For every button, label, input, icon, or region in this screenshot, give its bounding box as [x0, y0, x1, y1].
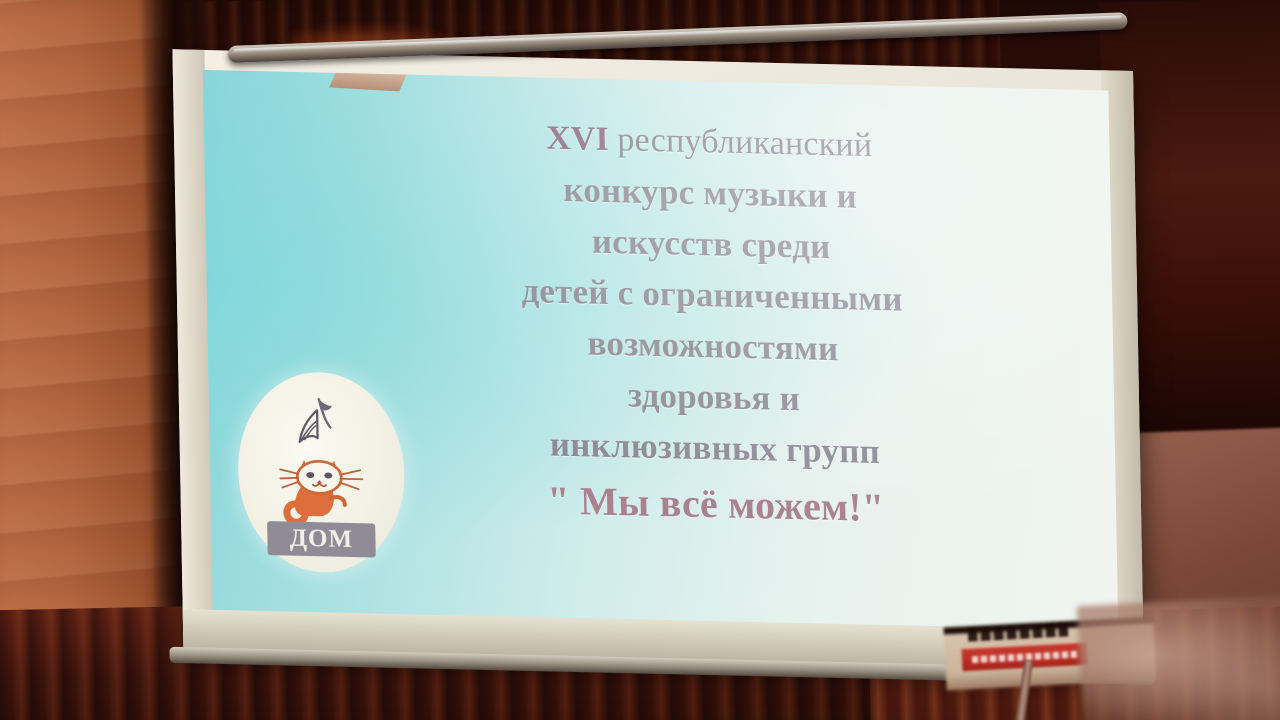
logo-badge: ДОМ — [267, 521, 376, 557]
roman-numeral: XVI — [546, 120, 609, 158]
cat-icon — [274, 445, 368, 533]
photo-scene: ДОМ XVI республиканский конкурс музыки и… — [0, 0, 1280, 720]
slide-text-block: XVI республиканский конкурс музыки и иск… — [384, 110, 1042, 541]
organization-logo: ДОМ — [236, 370, 406, 574]
projector-screen: ДОМ XVI республиканский конкурс музыки и… — [144, 7, 1167, 690]
slide-line-1-rest: республиканский — [608, 121, 872, 164]
logo-badge-text: ДОМ — [290, 525, 354, 554]
slide-slogan: " Мы всё можем!" — [390, 468, 1041, 541]
musical-note-icon — [285, 396, 344, 453]
foreground-blur — [1077, 594, 1280, 720]
projected-slide: ДОМ XVI республиканский конкурс музыки и… — [203, 70, 1118, 630]
